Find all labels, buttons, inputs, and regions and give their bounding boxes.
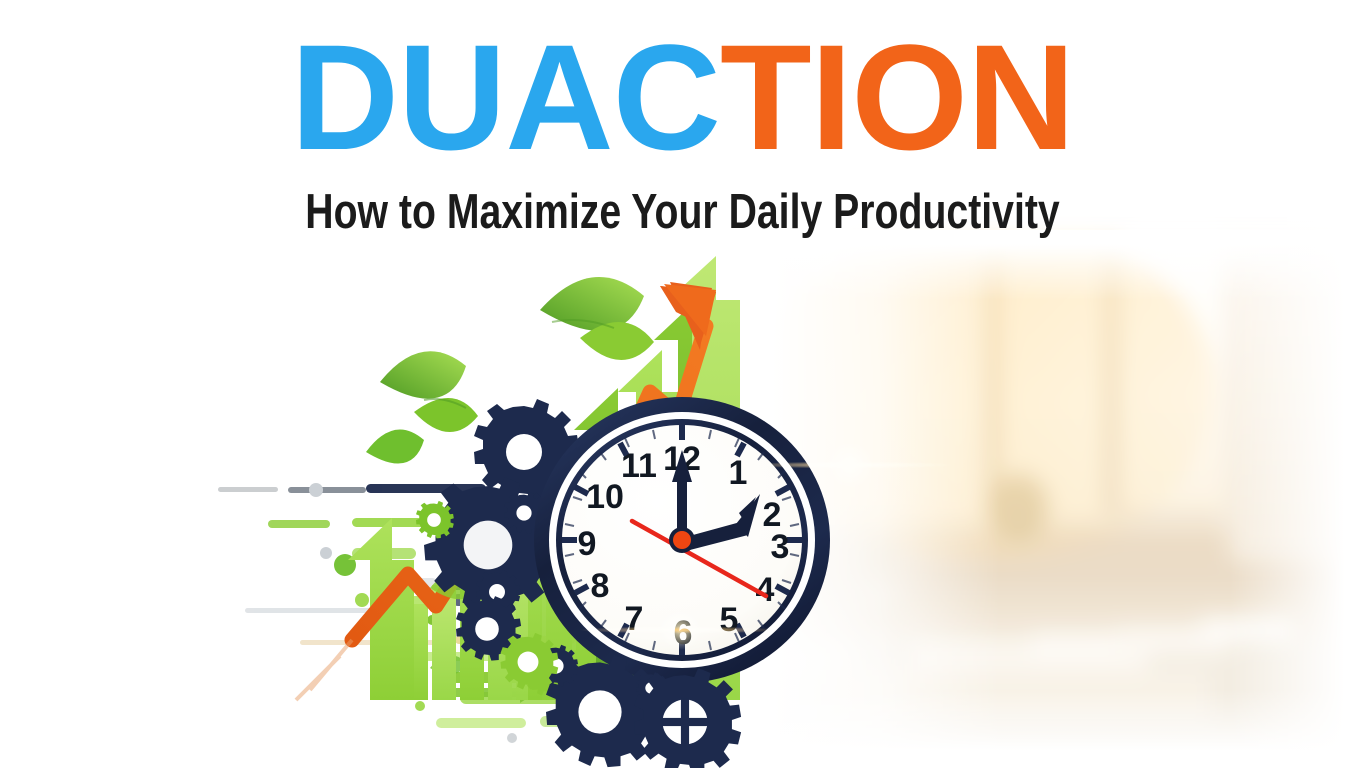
clock-numeral-9: 9 [578,525,597,563]
gear-icon [501,633,559,690]
clock-numeral-6: 6 [674,614,693,652]
clock-numeral-11: 11 [621,447,657,485]
title-segment-blue: DUAC [291,13,720,181]
clock-numeral-7: 7 [625,600,644,638]
poster-title: DUACTION [0,22,1365,172]
clock-numeral-10: 10 [586,478,624,516]
clock-numeral-5: 5 [720,601,739,639]
poster-subtitle: How to Maximize Your Daily Productivity [137,182,1229,242]
gear-icon [416,501,454,538]
clock-numeral-1: 1 [729,454,748,492]
poster-canvas: 12 1 2 3 4 5 6 7 8 9 10 11 [0,0,1365,768]
title-text: DUACTION [0,22,1365,172]
gear-spoke-icon [634,668,741,768]
clock-numeral-3: 3 [771,528,790,566]
analog-wall-clock: 12 1 2 3 4 5 6 7 8 9 10 11 [534,397,830,683]
title-segment-orange: TION [720,13,1074,181]
clock-numeral-8: 8 [591,567,610,605]
